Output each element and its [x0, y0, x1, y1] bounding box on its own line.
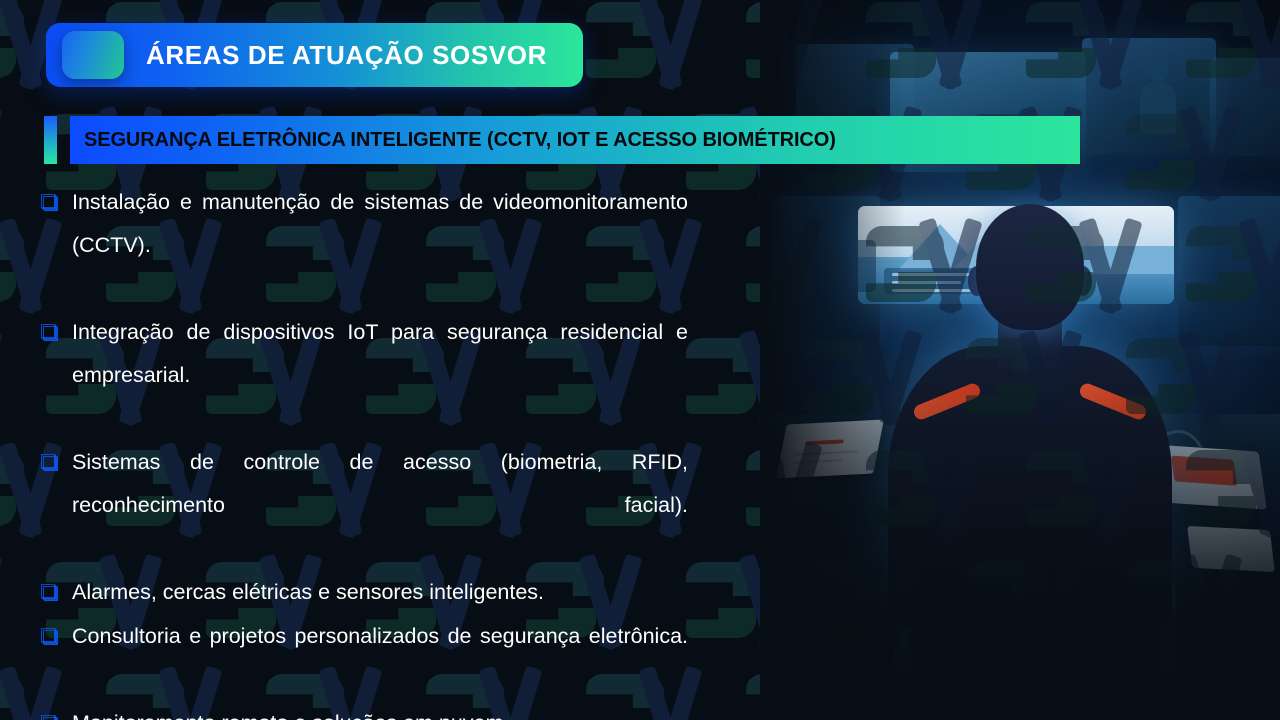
bullet-square-icon: ❑	[40, 311, 72, 354]
bullet-square-icon: ❑	[40, 615, 72, 658]
subtitle-text: SEGURANÇA ELETRÔNICA INTELIGENTE (CCTV, …	[84, 129, 836, 152]
bullet-item-label: Monitoramento remoto e soluções em nuvem…	[72, 702, 688, 720]
security-operator-silhouette	[880, 204, 1180, 624]
bullet-square-icon: ❑	[40, 181, 72, 224]
bullet-item: ❑Consultoria e projetos personalizados d…	[40, 615, 688, 701]
bullet-item: ❑Integração de dispositivos IoT para seg…	[40, 311, 688, 440]
sv-watermark-icon	[0, 92, 40, 212]
desk-mousepad	[1187, 526, 1275, 572]
bullet-square-icon: ❑	[40, 571, 72, 614]
bullet-item-label: Sistemas de controle de acesso (biometri…	[72, 441, 688, 570]
bullet-item: ❑Sistemas de controle de acesso (biometr…	[40, 441, 688, 570]
bullet-square-icon: ❑	[40, 441, 72, 484]
bullet-item: ❑Instalação e manutenção de sistemas de …	[40, 181, 688, 310]
control-room-illustration	[760, 0, 1280, 720]
bullet-item-label: Instalação e manutenção de sistemas de v…	[72, 181, 688, 310]
monitor-person-silhouette	[1138, 62, 1178, 134]
bullet-item: ❑Alarmes, cercas elétricas e sensores in…	[40, 571, 688, 614]
desk-notebook	[776, 420, 884, 479]
sv-watermark-icon	[580, 0, 740, 100]
bullet-list: ❑Instalação e manutenção de sistemas de …	[40, 181, 688, 720]
logo-square-icon	[62, 31, 124, 79]
subtitle-accent-bar	[44, 116, 57, 164]
bullet-item-label: Alarmes, cercas elétricas e sensores int…	[72, 571, 688, 614]
wall-monitor-mid-right	[1178, 196, 1280, 346]
wall-monitor-far-right	[1210, 58, 1280, 156]
slide-root: ÁREAS DE ATUAÇÃO SOSVOR SEGURANÇA ELETRÔ…	[0, 0, 1280, 720]
bullet-item-label: Consultoria e projetos personalizados de…	[72, 615, 688, 701]
bullet-square-icon: ❑	[40, 702, 72, 720]
page-title: ÁREAS DE ATUAÇÃO SOSVOR	[146, 40, 547, 71]
bullet-item: ❑Monitoramento remoto e soluções em nuve…	[40, 702, 688, 720]
sv-watermark-icon	[0, 540, 40, 660]
subtitle-bar: SEGURANÇA ELETRÔNICA INTELIGENTE (CCTV, …	[70, 116, 1080, 164]
bullet-item-label: Integração de dispositivos IoT para segu…	[72, 311, 688, 440]
section-subtitle: SEGURANÇA ELETRÔNICA INTELIGENTE (CCTV, …	[44, 116, 1080, 164]
header-banner: ÁREAS DE ATUAÇÃO SOSVOR	[46, 23, 583, 87]
sv-watermark-icon	[0, 316, 40, 436]
